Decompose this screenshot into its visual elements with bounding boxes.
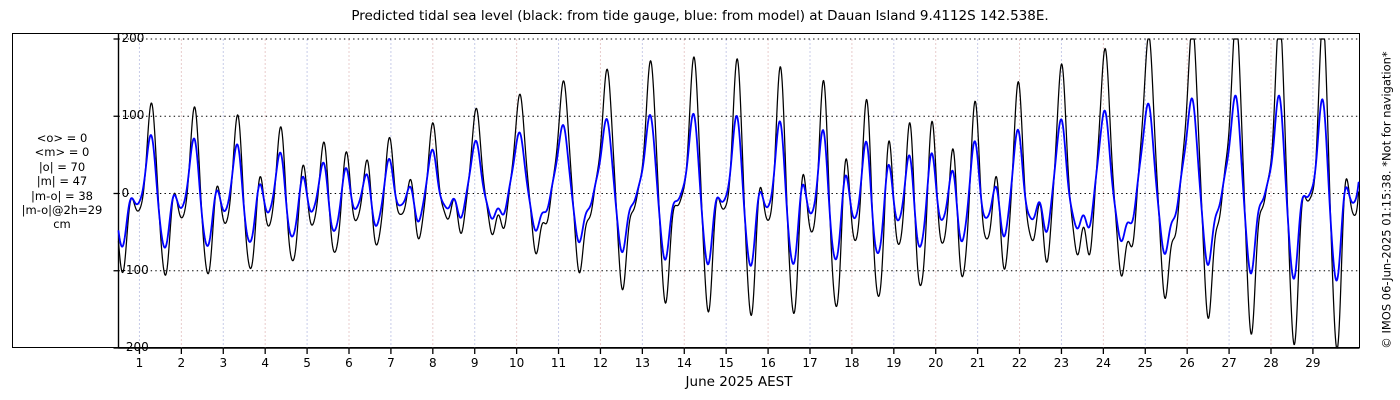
stat-abs-diff: |m-o| = 38 xyxy=(8,189,116,203)
x-tick-label: 6 xyxy=(329,356,369,370)
x-tick-label: 1 xyxy=(119,356,159,370)
chart-page: Predicted tidal sea level (black: from t… xyxy=(0,0,1400,400)
stat-mean-model: <m> = 0 xyxy=(8,145,116,159)
x-tick-label: 23 xyxy=(1041,356,1081,370)
stat-abs-model: |m| = 47 xyxy=(8,174,116,188)
x-tick-label: 28 xyxy=(1251,356,1291,370)
stat-mean-obs: <o> = 0 xyxy=(8,131,116,145)
x-tick-label: 5 xyxy=(287,356,327,370)
x-tick-label: 4 xyxy=(245,356,285,370)
copyright-notice: © IMOS 06-Jun-2025 01:15:38. *Not for na… xyxy=(1376,0,1398,400)
y-tick-label: 200 xyxy=(122,31,145,45)
x-tick-label: 29 xyxy=(1293,356,1333,370)
x-tick-label: 16 xyxy=(748,356,788,370)
x-tick-label: 2 xyxy=(161,356,201,370)
x-tick-label: 24 xyxy=(1083,356,1123,370)
x-tick-label: 20 xyxy=(916,356,956,370)
x-tick-marks xyxy=(139,348,1312,354)
x-tick-label: 21 xyxy=(958,356,998,370)
x-tick-label: 26 xyxy=(1167,356,1207,370)
plot-outer-frame xyxy=(12,33,1360,348)
x-axis-title: June 2025 AEST xyxy=(118,374,1360,390)
x-tick-label: 9 xyxy=(455,356,495,370)
statistics-block: <o> = 0 <m> = 0 |o| = 70 |m| = 47 |m-o| … xyxy=(8,131,116,232)
y-tick-label: -200 xyxy=(122,340,149,354)
stat-abs-diff-2h: |m-o|@2h=29 xyxy=(8,203,116,217)
x-tick-label: 12 xyxy=(580,356,620,370)
y-tick-label: 0 xyxy=(122,186,130,200)
x-tick-label: 25 xyxy=(1125,356,1165,370)
y-tick-label: 100 xyxy=(122,108,145,122)
y-tick-label: -100 xyxy=(122,263,149,277)
x-tick-label: 15 xyxy=(706,356,746,370)
x-tick-label: 19 xyxy=(874,356,914,370)
stat-abs-obs: |o| = 70 xyxy=(8,160,116,174)
stat-units: cm xyxy=(8,217,116,231)
x-tick-label: 14 xyxy=(664,356,704,370)
page-title: Predicted tidal sea level (black: from t… xyxy=(0,8,1400,24)
x-tick-label: 10 xyxy=(497,356,537,370)
x-tick-label: 8 xyxy=(413,356,453,370)
x-tick-label: 18 xyxy=(832,356,872,370)
x-tick-label: 11 xyxy=(539,356,579,370)
x-tick-label: 7 xyxy=(371,356,411,370)
x-tick-label: 17 xyxy=(790,356,830,370)
x-tick-label: 13 xyxy=(622,356,662,370)
copyright-text: © IMOS 06-Jun-2025 01:15:38. *Not for na… xyxy=(1380,51,1394,348)
x-tick-label: 27 xyxy=(1209,356,1249,370)
x-tick-label: 22 xyxy=(1000,356,1040,370)
x-tick-label: 3 xyxy=(203,356,243,370)
